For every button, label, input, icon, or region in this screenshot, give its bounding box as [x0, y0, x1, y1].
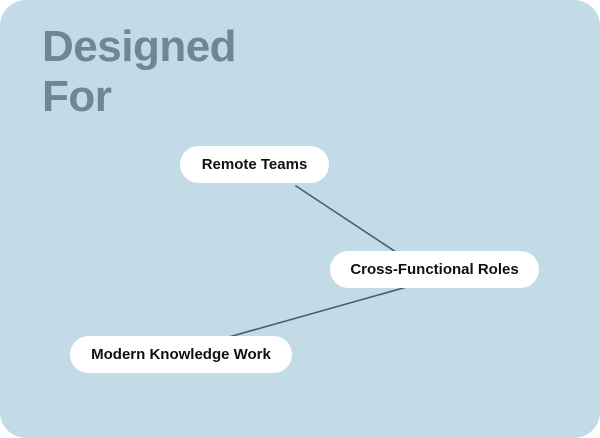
diagram-node-modern-knowledge-work[interactable]: Modern Knowledge Work [70, 336, 292, 373]
diagram-node-remote-teams[interactable]: Remote Teams [180, 146, 329, 183]
diagram-node-label: Modern Knowledge Work [91, 346, 271, 363]
diagram-node-label: Remote Teams [202, 156, 308, 173]
connector-line [218, 285, 414, 340]
diagram-node-label: Cross-Functional Roles [350, 261, 518, 278]
diagram-node-cross-functional-roles[interactable]: Cross-Functional Roles [330, 251, 539, 288]
designed-for-card: Designed For Remote Teams Cross-Function… [0, 0, 600, 438]
connector-line [296, 186, 402, 256]
